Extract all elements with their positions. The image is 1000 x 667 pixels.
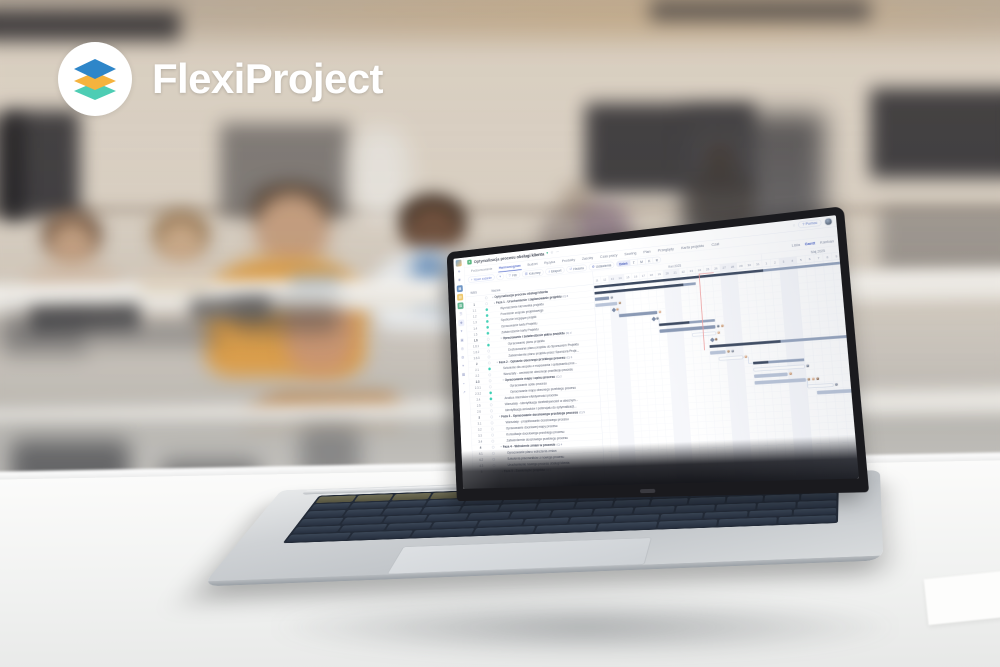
help-button[interactable]: ? Pomoc <box>798 219 822 228</box>
status-dot-icon <box>490 403 493 406</box>
key <box>467 512 510 520</box>
laptop-screen: ◈ ◉ ▦ ▤ ▥ ☰ ◆ ▼ ▣ ◎ ◍ ✦ ▩ ◒ ↗ <box>453 215 859 489</box>
status-indicator[interactable] <box>483 308 491 312</box>
bell-icon[interactable]: ◌ <box>793 223 796 227</box>
key <box>551 509 593 517</box>
tab-label: Harmonogram <box>499 264 521 270</box>
brand-name: FlexiProject <box>152 55 383 103</box>
filter-button[interactable]: ▽ Filtr <box>506 271 521 279</box>
cell-wbs: 4 <box>472 446 489 450</box>
task-count-badge: (C) 5 <box>579 410 585 414</box>
status-indicator[interactable] <box>486 379 494 382</box>
status-dot-icon <box>486 314 489 317</box>
status-indicator[interactable] <box>484 343 492 346</box>
key <box>473 526 535 535</box>
chevron-down-icon: ▾ <box>499 275 501 279</box>
cell-wbs: 4.2 <box>473 458 490 462</box>
status-indicator[interactable] <box>489 452 498 455</box>
status-indicator[interactable] <box>488 427 497 430</box>
status-dot-icon <box>487 332 490 335</box>
key <box>596 522 657 531</box>
key <box>689 497 726 504</box>
status-dot-icon <box>492 458 495 461</box>
status-dot-icon <box>489 379 492 382</box>
tab-czat[interactable]: Czat <box>708 239 724 249</box>
key <box>286 533 351 542</box>
status-dot-icon <box>488 361 491 364</box>
export-label: Eksport <box>551 268 561 273</box>
chevron-down-icon[interactable]: ▾ <box>546 251 548 255</box>
columns-icon: ▥ <box>525 272 528 276</box>
new-task-label: Nowe zadanie <box>474 276 492 281</box>
laptop-lid: ◈ ◉ ▦ ▤ ▥ ☰ ◆ ▼ ▣ ◎ ◍ ✦ ▩ ◒ ↗ <box>447 206 869 501</box>
key <box>425 513 468 521</box>
flexiproject-logo: FlexiProject <box>58 42 383 116</box>
view-kanban[interactable]: Kanban <box>820 239 834 245</box>
status-indicator[interactable] <box>484 332 492 335</box>
cell-wbs: 4.1 <box>472 452 489 456</box>
status-dot-icon <box>486 320 489 323</box>
key <box>535 524 597 533</box>
star-icon[interactable]: ☆ <box>550 251 553 255</box>
history-label: Historia <box>573 266 584 271</box>
gantt-day-label: 11 <box>850 250 859 258</box>
tab-label: Przeglądy <box>658 247 674 253</box>
flexiproject-app: ◈ ◉ ▦ ▤ ▥ ☰ ◆ ▼ ▣ ◎ ◍ ✦ ▩ ◒ ↗ <box>453 215 859 489</box>
key <box>298 518 343 526</box>
key <box>575 501 613 509</box>
view-gantt[interactable]: Gantt <box>805 241 816 246</box>
key <box>382 508 423 516</box>
status-indicator[interactable] <box>483 326 491 330</box>
key <box>341 516 386 524</box>
risks-icon[interactable]: ◎ <box>459 345 465 352</box>
status-dot-icon <box>489 385 492 388</box>
key <box>523 517 569 525</box>
status-dot-icon <box>490 409 493 412</box>
status-dot-icon <box>491 428 494 431</box>
status-indicator[interactable] <box>487 415 496 418</box>
cell-wbs: 2.1 <box>469 367 486 372</box>
help-icon[interactable]: ◒ <box>461 380 467 387</box>
cell-wbs: 2 <box>468 362 485 367</box>
cell-wbs: 3.1 <box>471 421 488 425</box>
gantt-day-label: 10 <box>841 251 851 259</box>
status-dot-icon <box>491 440 494 443</box>
key <box>798 500 837 508</box>
key <box>794 508 836 516</box>
key <box>349 531 413 540</box>
status-indicator[interactable] <box>486 385 495 388</box>
status-dot-icon <box>487 344 490 347</box>
status-dot-icon <box>492 446 495 449</box>
archive-icon[interactable]: ▩ <box>460 371 466 378</box>
cell-wbs: 3 <box>471 415 488 419</box>
key <box>634 506 675 514</box>
status-dot-icon <box>486 326 489 329</box>
paper-sheet <box>924 571 1000 625</box>
key <box>392 493 432 500</box>
chevron-down-icon[interactable]: ▾ <box>497 361 498 364</box>
key <box>460 505 500 513</box>
status-indicator[interactable] <box>487 403 496 406</box>
key <box>651 498 688 505</box>
status-indicator[interactable] <box>486 373 494 376</box>
dashboard-icon[interactable]: ◈ <box>456 268 462 275</box>
tab-label: Zasoby <box>582 256 593 261</box>
documents-icon[interactable]: ▣ <box>459 337 465 344</box>
status-dot-icon <box>493 470 496 473</box>
key <box>614 514 659 522</box>
task-grid-rows[interactable]: ▾Optymalizacja procesu obsługi klienta1▾… <box>466 285 606 489</box>
cell-wbs: 3.4 <box>472 440 489 444</box>
key <box>387 500 427 508</box>
key <box>675 505 715 513</box>
status-indicator[interactable] <box>489 446 498 449</box>
gantt-day-label: 9 <box>832 252 842 260</box>
stacked-layers-icon <box>58 42 132 116</box>
key <box>764 494 800 501</box>
tab-label: Czat <box>711 242 719 247</box>
status-indicator[interactable] <box>484 337 492 340</box>
team-icon[interactable]: ◍ <box>460 354 466 361</box>
tab-label: Budżet <box>527 262 537 267</box>
view-lista[interactable]: Lista <box>791 243 800 248</box>
status-indicator[interactable] <box>490 470 499 473</box>
task-count-badge: (C) 4 <box>556 443 562 447</box>
task-count-badge: (C) 6 <box>562 294 568 298</box>
gear-icon: ✿ <box>592 265 595 269</box>
key <box>383 515 427 523</box>
status-indicator[interactable] <box>487 397 496 400</box>
key <box>716 503 756 511</box>
key <box>657 520 717 529</box>
status-indicator[interactable] <box>488 421 497 424</box>
status-dot-icon <box>492 452 495 455</box>
task-count-badge: (C) 2 <box>546 468 552 471</box>
status-dot-icon <box>493 464 496 467</box>
task-count-badge: (C) 6 <box>566 355 572 359</box>
cell-wbs: 4.3 <box>473 464 490 468</box>
status-indicator[interactable] <box>482 302 490 306</box>
task-count-badge: (C) 2 <box>556 374 562 378</box>
cell-wbs <box>466 298 482 300</box>
resources-icon[interactable]: ◆ <box>458 319 464 326</box>
laptop: ◈ ◉ ▦ ▤ ▥ ☰ ◆ ▼ ▣ ◎ ◍ ✦ ▩ ◒ ↗ <box>255 222 895 642</box>
task-grid: WBS Nazwa ▾Optymalizacja procesu obsługi… <box>465 272 606 489</box>
column-header-wbs: WBS <box>465 290 482 295</box>
timescale-dzień[interactable]: Dzień <box>617 260 631 267</box>
status-dot-icon <box>488 367 491 370</box>
status-dot-icon <box>489 391 492 394</box>
key <box>749 509 792 517</box>
tab-label: Podsumowanie <box>471 267 493 273</box>
key <box>343 509 384 517</box>
status-indicator[interactable] <box>483 314 491 318</box>
export-button[interactable]: ⤓ Eksport <box>545 267 564 275</box>
status-indicator[interactable] <box>486 391 495 394</box>
cell-wbs: 3.3 <box>472 433 489 437</box>
download-icon: ⤓ <box>548 269 550 273</box>
chevron-down-icon[interactable]: ▾ <box>501 445 502 448</box>
tab-label: Ryzyka <box>544 260 555 265</box>
key <box>726 496 762 503</box>
key <box>704 511 748 519</box>
cell-wbs: 5 <box>473 470 490 474</box>
status-indicator[interactable] <box>487 409 496 412</box>
settings-icon[interactable]: ✦ <box>460 363 466 370</box>
key <box>316 495 357 502</box>
status-indicator[interactable] <box>484 349 492 352</box>
filter-icon[interactable]: ▼ <box>458 328 464 335</box>
key <box>509 510 551 518</box>
status-dot-icon <box>487 350 490 353</box>
cell-wbs: 2.5 <box>470 403 487 407</box>
key <box>411 528 474 537</box>
cell-wbs: 2.3.2 <box>470 391 487 396</box>
chevron-down-icon[interactable]: ▾ <box>501 337 502 340</box>
cell-wbs: 2.3 <box>469 379 486 384</box>
status-dot-icon <box>485 308 488 311</box>
key <box>613 500 651 507</box>
assignee-avatar[interactable] <box>853 388 857 392</box>
cell-wbs: 2.4 <box>470 397 487 402</box>
chevron-down-icon[interactable]: ▾ <box>492 296 493 299</box>
tab-plan[interactable]: Plan <box>640 247 655 257</box>
reports-icon[interactable]: ▥ <box>457 302 463 309</box>
key <box>593 508 634 516</box>
key <box>801 493 836 500</box>
tab-label: Plan <box>643 249 650 254</box>
status-dot-icon <box>491 421 494 424</box>
chevron-down-icon[interactable]: ▾ <box>502 470 503 473</box>
status-dot-icon <box>488 356 491 359</box>
flexiproject-logo-icon[interactable] <box>456 260 462 267</box>
key <box>354 494 394 501</box>
status-dot-icon <box>485 302 488 305</box>
new-task-dropdown[interactable]: ▾ <box>496 273 504 280</box>
chevron-down-icon[interactable]: ▾ <box>494 302 495 305</box>
tab-label: Karta projektu <box>681 244 704 251</box>
cell-name: ▾Faza 5 - Zamknięcie projektu(C) 2 <box>498 466 604 473</box>
status-indicator[interactable] <box>489 458 498 461</box>
spreadsheet-icon: X <box>467 259 472 264</box>
key <box>757 502 796 510</box>
key <box>304 510 346 518</box>
tab-label: Produkty <box>562 258 576 263</box>
status-indicator[interactable] <box>485 355 493 358</box>
projects-icon[interactable]: ◉ <box>456 277 462 284</box>
help-label: Pomoc <box>805 221 817 227</box>
cell-wbs: 3.2 <box>471 427 488 431</box>
status-indicator[interactable] <box>482 296 490 300</box>
key <box>421 506 461 514</box>
tab-label: Scoring <box>624 251 636 256</box>
status-indicator[interactable] <box>489 440 498 443</box>
tab-label: Czas pracy <box>600 253 618 259</box>
task-count-badge: (C) 3 <box>566 331 572 335</box>
key <box>498 504 537 512</box>
status-indicator[interactable] <box>483 320 491 324</box>
settings-label: Ustawienia <box>596 263 611 268</box>
key <box>778 515 836 524</box>
cell-wbs: 2.6 <box>471 409 488 413</box>
chevron-down-icon[interactable]: ▾ <box>503 379 504 382</box>
key <box>569 516 614 524</box>
status-dot-icon <box>487 338 490 341</box>
status-dot-icon <box>490 397 493 400</box>
funnel-icon: ▽ <box>509 273 511 277</box>
avatar[interactable] <box>824 218 832 226</box>
calendar-icon[interactable]: ▤ <box>457 294 463 301</box>
gantt-chart[interactable]: Kwi 2025Maj 2025 11121314151617181920212… <box>593 246 859 489</box>
link-icon[interactable]: ↗ <box>461 389 467 396</box>
clock-icon: ↺ <box>569 267 572 271</box>
cell-wbs: 2.2 <box>469 373 486 378</box>
status-dot-icon <box>491 434 494 437</box>
timescale-r[interactable]: R <box>653 257 661 263</box>
key <box>310 503 351 511</box>
key <box>349 501 390 509</box>
status-indicator[interactable] <box>490 464 499 467</box>
filter-label: Filtr <box>512 273 517 277</box>
task-name: Faza 5 - Zamknięcie projektu <box>504 468 545 473</box>
status-dot-icon <box>488 373 491 376</box>
status-indicator[interactable] <box>485 361 493 364</box>
key <box>659 513 703 521</box>
cell-wbs: 2.3.1 <box>470 385 487 390</box>
key <box>718 517 777 526</box>
board-icon[interactable]: ☰ <box>458 311 464 318</box>
more-options-icon[interactable]: ⋯ <box>556 250 560 254</box>
plus-icon: + <box>471 278 473 282</box>
portfolio-icon[interactable]: ▦ <box>457 285 463 292</box>
status-dot-icon <box>485 296 488 299</box>
status-indicator[interactable] <box>488 433 497 436</box>
status-dot-icon <box>490 415 493 418</box>
gantt-body[interactable] <box>594 260 859 489</box>
chevron-down-icon[interactable]: ▾ <box>499 415 500 418</box>
columns-label: Kolumny <box>529 271 541 276</box>
status-indicator[interactable] <box>485 367 493 370</box>
key <box>537 502 576 510</box>
